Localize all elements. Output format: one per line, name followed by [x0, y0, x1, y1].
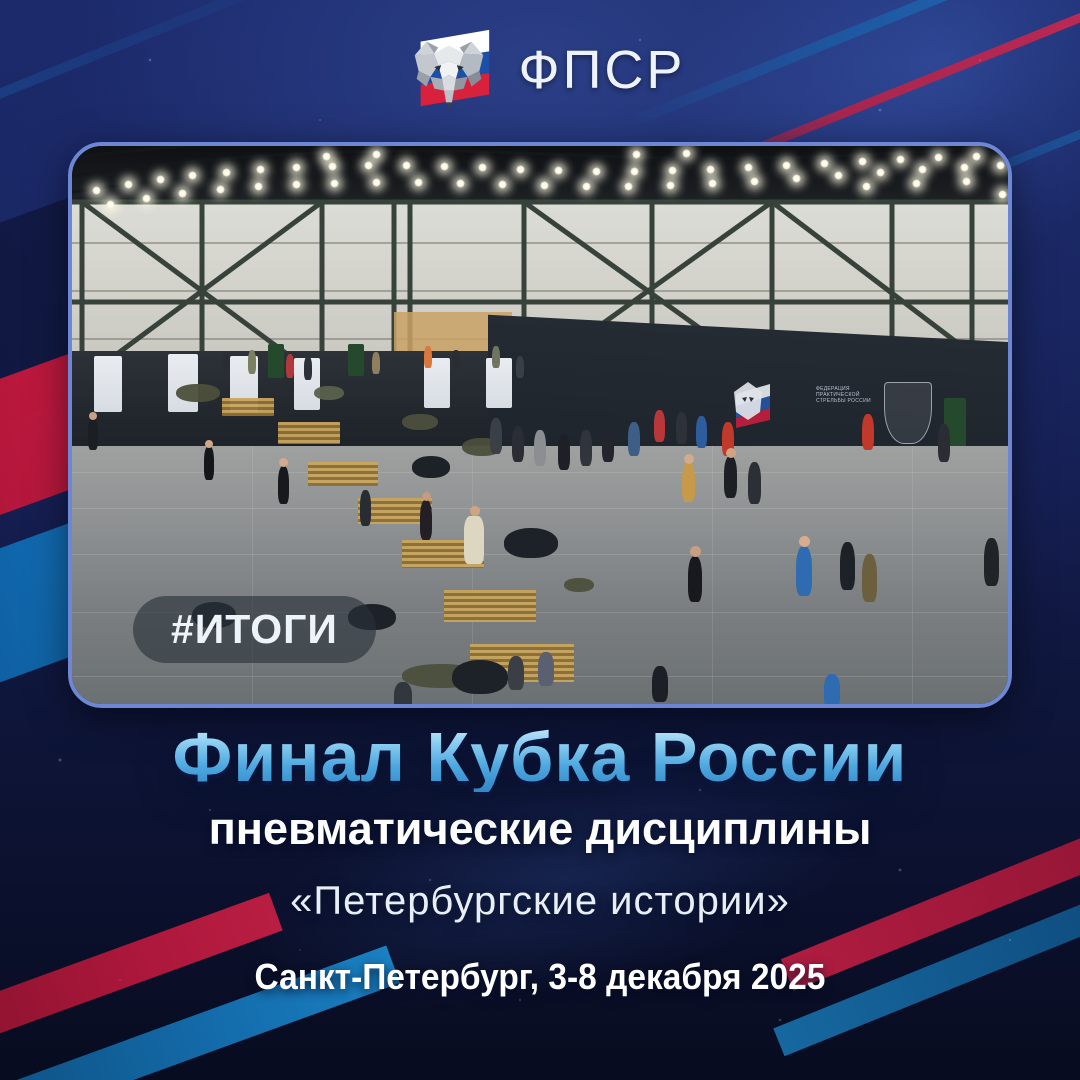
- fpsr-bear-logo-icon: [395, 22, 503, 118]
- event-photo-card: ФЕДЕРАЦИЯ ПРАКТИЧЕСКОЙ СТРЕЛЬБЫ РОССИИ Ф…: [68, 142, 1012, 708]
- federation-banner-text-1: ФЕДЕРАЦИЯ ПРАКТИЧЕСКОЙ СТРЕЛЬБЫ РОССИИ: [816, 386, 878, 404]
- title-subtitle: пневматические дисциплины: [0, 806, 1080, 851]
- brand-header: ФПСР: [0, 20, 1080, 120]
- brand-logo-text: ФПСР: [519, 43, 686, 97]
- hashtag-badge: #ИТОГИ: [133, 596, 376, 663]
- club-shield-emblem: [884, 382, 932, 444]
- title-quote: «Петербургские истории»: [0, 881, 1080, 921]
- poster-canvas: ФПСР: [0, 0, 1080, 1080]
- page-title: Финал Кубка России: [173, 722, 908, 792]
- event-date-location: Санкт-Петербург, 3-8 декабря 2025: [255, 959, 826, 995]
- title-block: Финал Кубка России пневматические дисцип…: [0, 722, 1080, 995]
- hall-photograph: ФЕДЕРАЦИЯ ПРАКТИЧЕСКОЙ СТРЕЛЬБЫ РОССИИ Ф…: [72, 146, 1008, 704]
